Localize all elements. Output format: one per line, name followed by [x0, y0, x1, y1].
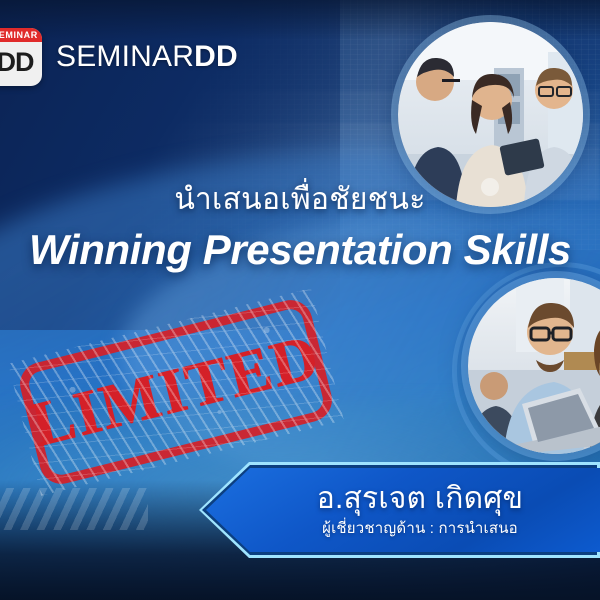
logo-badge-seminar-label: SEMINAR	[0, 28, 42, 42]
brand-logo[interactable]: SEMINAR DD SEMINARDD	[0, 28, 238, 86]
speaker-banner-content: อ.สุรเจต เกิดศุข ผู้เชี่ยวชาญด้าน : การน…	[206, 468, 600, 552]
seminar-promo-poster: SEMINAR DD SEMINARDD นำเสนอเพื่อชัยชนะ W…	[0, 0, 600, 600]
speaker-role: ผู้เชี่ยวชาญด้าน : การนำเสนอ	[322, 520, 518, 538]
headline-thai: นำเสนอเพื่อชัยชนะ	[0, 183, 600, 218]
logo-badge-icon: SEMINAR DD	[0, 28, 42, 86]
wordmark-dd: DD	[194, 40, 238, 73]
brand-wordmark: SEMINARDD	[56, 42, 238, 72]
headline-english: Winning Presentation Skills	[0, 226, 600, 274]
photo-colleagues-discussing	[398, 22, 583, 207]
wordmark-seminar: SEMINAR	[56, 40, 194, 73]
logo-badge-dd-label: DD	[0, 42, 42, 86]
speaker-name: อ.สุรเจต เกิดศุข	[317, 482, 523, 516]
diagonal-stripes-decoration	[0, 488, 148, 530]
